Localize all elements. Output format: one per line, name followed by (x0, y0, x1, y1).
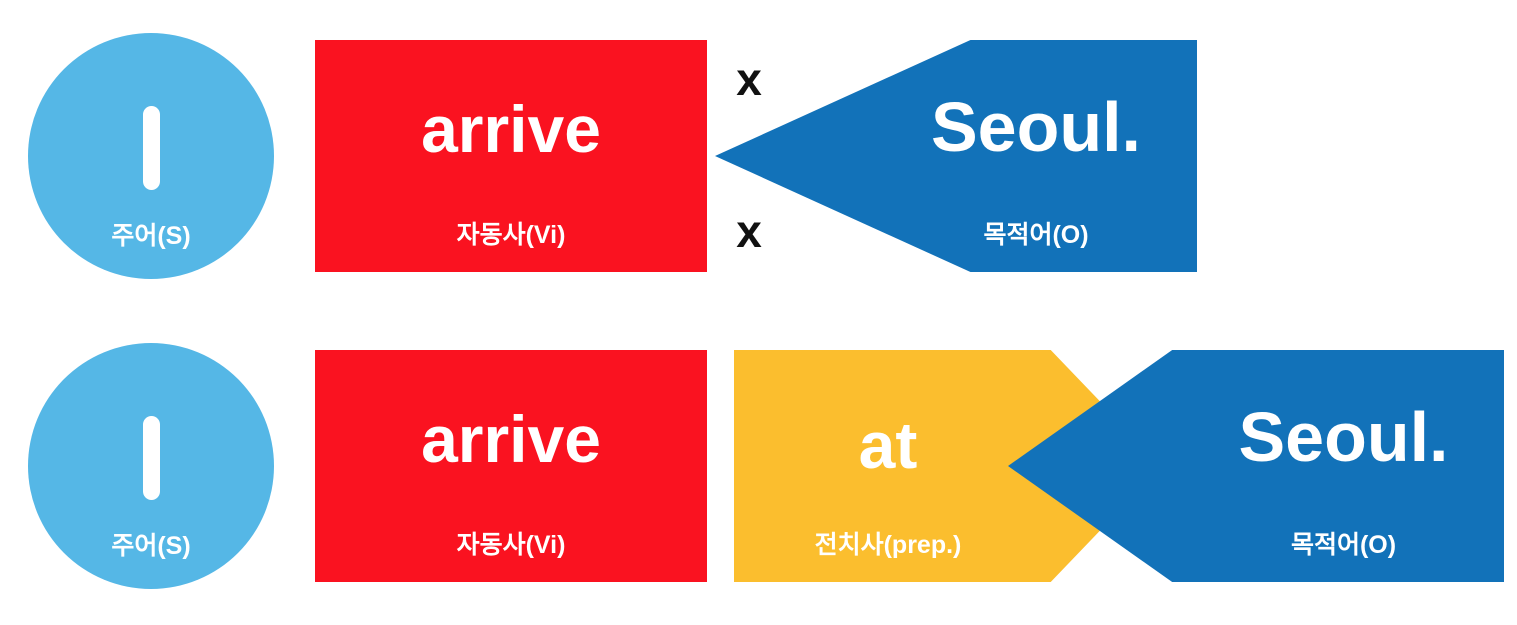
subject-letter-i-glyph (143, 106, 160, 190)
verb-box-row1[interactable]: arrive 자동사(Vi) (315, 40, 707, 272)
verb-word-row1: arrive (315, 96, 707, 162)
object-role-label-row1: 목적어(O) (875, 223, 1197, 248)
verb-word-row2: arrive (315, 406, 707, 472)
sentence-row-incorrect: 주어(S) arrive 자동사(Vi) x x Seoul. 목적어(O) (0, 0, 1517, 310)
object-role-label-row2: 목적어(O) (1183, 533, 1504, 558)
verb-role-label-row2: 자동사(Vi) (315, 533, 707, 558)
object-word-row2: Seoul. (1183, 402, 1504, 472)
subject-letter-i-glyph (143, 416, 160, 500)
grammar-diagram-canvas: 주어(S) arrive 자동사(Vi) x x Seoul. 목적어(O) 주… (0, 0, 1517, 625)
object-word-row1: Seoul. (875, 92, 1197, 162)
x-mark-top-row1: x (726, 56, 772, 102)
subject-role-label-row1: 주어(S) (28, 224, 274, 249)
verb-role-label-row1: 자동사(Vi) (315, 223, 707, 248)
preposition-role-label-row2: 전치사(prep.) (734, 533, 1042, 558)
subject-circle-row1[interactable]: 주어(S) (28, 33, 274, 279)
subject-circle-row2[interactable]: 주어(S) (28, 343, 274, 589)
subject-role-label-row2: 주어(S) (28, 534, 274, 559)
object-block-row1[interactable]: Seoul. 목적어(O) (715, 40, 1197, 272)
sentence-row-correct: 주어(S) arrive 자동사(Vi) at 전치사(prep.) Seoul… (0, 310, 1517, 625)
verb-box-row2[interactable]: arrive 자동사(Vi) (315, 350, 707, 582)
preposition-word-row2: at (734, 412, 1042, 478)
x-mark-bottom-row1: x (726, 208, 772, 254)
